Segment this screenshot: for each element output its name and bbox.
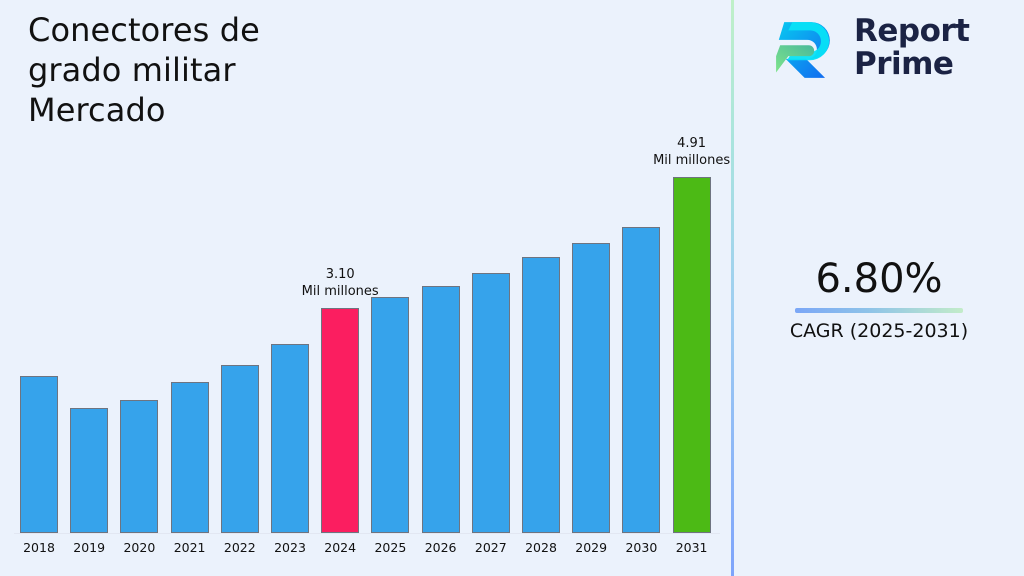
cagr-divider	[795, 308, 963, 313]
bar-2025	[371, 297, 409, 533]
bar-2030	[622, 227, 660, 533]
bar-2031	[673, 177, 711, 533]
chart-page: Conectores de grado militar Mercado 2018…	[0, 0, 1024, 576]
bar-2028	[522, 257, 560, 533]
bar-2023	[271, 344, 309, 533]
x-tick-label-2031: 2031	[662, 540, 722, 555]
bar-2020	[120, 400, 158, 533]
cagr-value: 6.80%	[734, 255, 1024, 303]
chart-panel: Conectores de grado militar Mercado 2018…	[0, 0, 732, 576]
cagr-block: 6.80% CAGR (2025-2031)	[734, 255, 1024, 343]
bar-2022	[221, 365, 259, 533]
bar-2019	[70, 408, 108, 533]
bar-2024	[321, 308, 359, 533]
bar-2026	[422, 286, 460, 533]
bar-2018	[20, 376, 58, 533]
brand-panel: Report Prime 6.80% CAGR (2025-2031)	[734, 0, 1024, 576]
bar-value-label-2024: 3.10 Mil millones	[260, 266, 420, 300]
bar-2029	[572, 243, 610, 533]
bar-2027	[472, 273, 510, 533]
brand-wordmark: Report Prime	[854, 15, 970, 81]
cagr-caption: CAGR (2025-2031)	[734, 319, 1024, 343]
x-axis-line	[14, 533, 720, 534]
bar-2021	[171, 382, 209, 533]
report-prime-logo: Report Prime	[772, 14, 970, 82]
report-prime-logo-icon	[772, 14, 840, 82]
bar-chart-plot: 20182019202020212022202320243.10 Mil mil…	[0, 0, 732, 576]
